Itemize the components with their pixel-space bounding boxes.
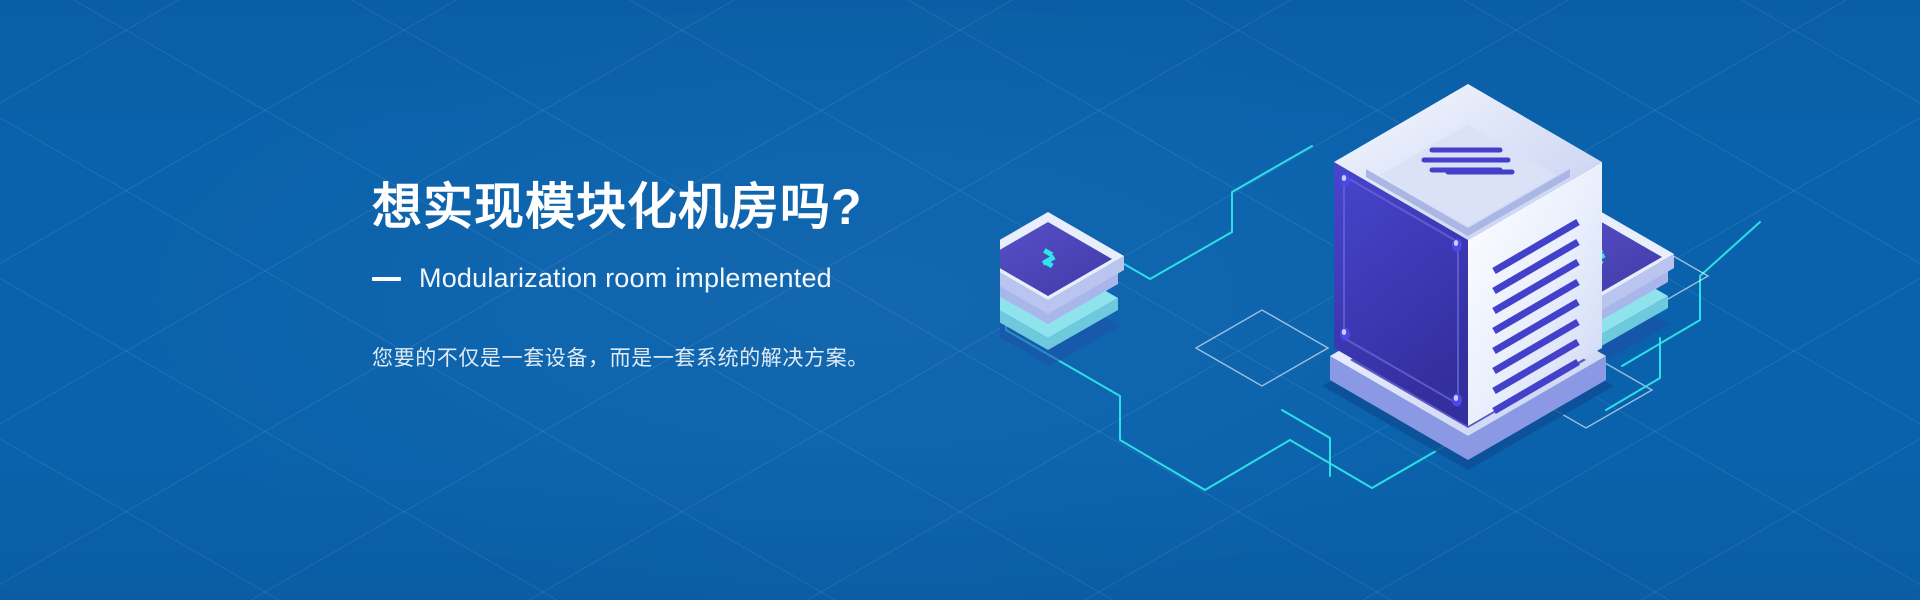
page-title: 想实现模块化机房吗? (372, 178, 1092, 237)
server-illustration (1000, 80, 1800, 520)
hero-banner: 想实现模块化机房吗? Modularization room implement… (0, 0, 1920, 600)
subtitle-row: Modularization room implemented (372, 263, 1092, 294)
description-text: 您要的不仅是一套设备，而是一套系统的解决方案。 (372, 342, 1092, 372)
subtitle-text: Modularization room implemented (419, 263, 832, 294)
dash-icon (372, 277, 401, 281)
hero-text-block: 想实现模块化机房吗? Modularization room implement… (372, 178, 1092, 372)
